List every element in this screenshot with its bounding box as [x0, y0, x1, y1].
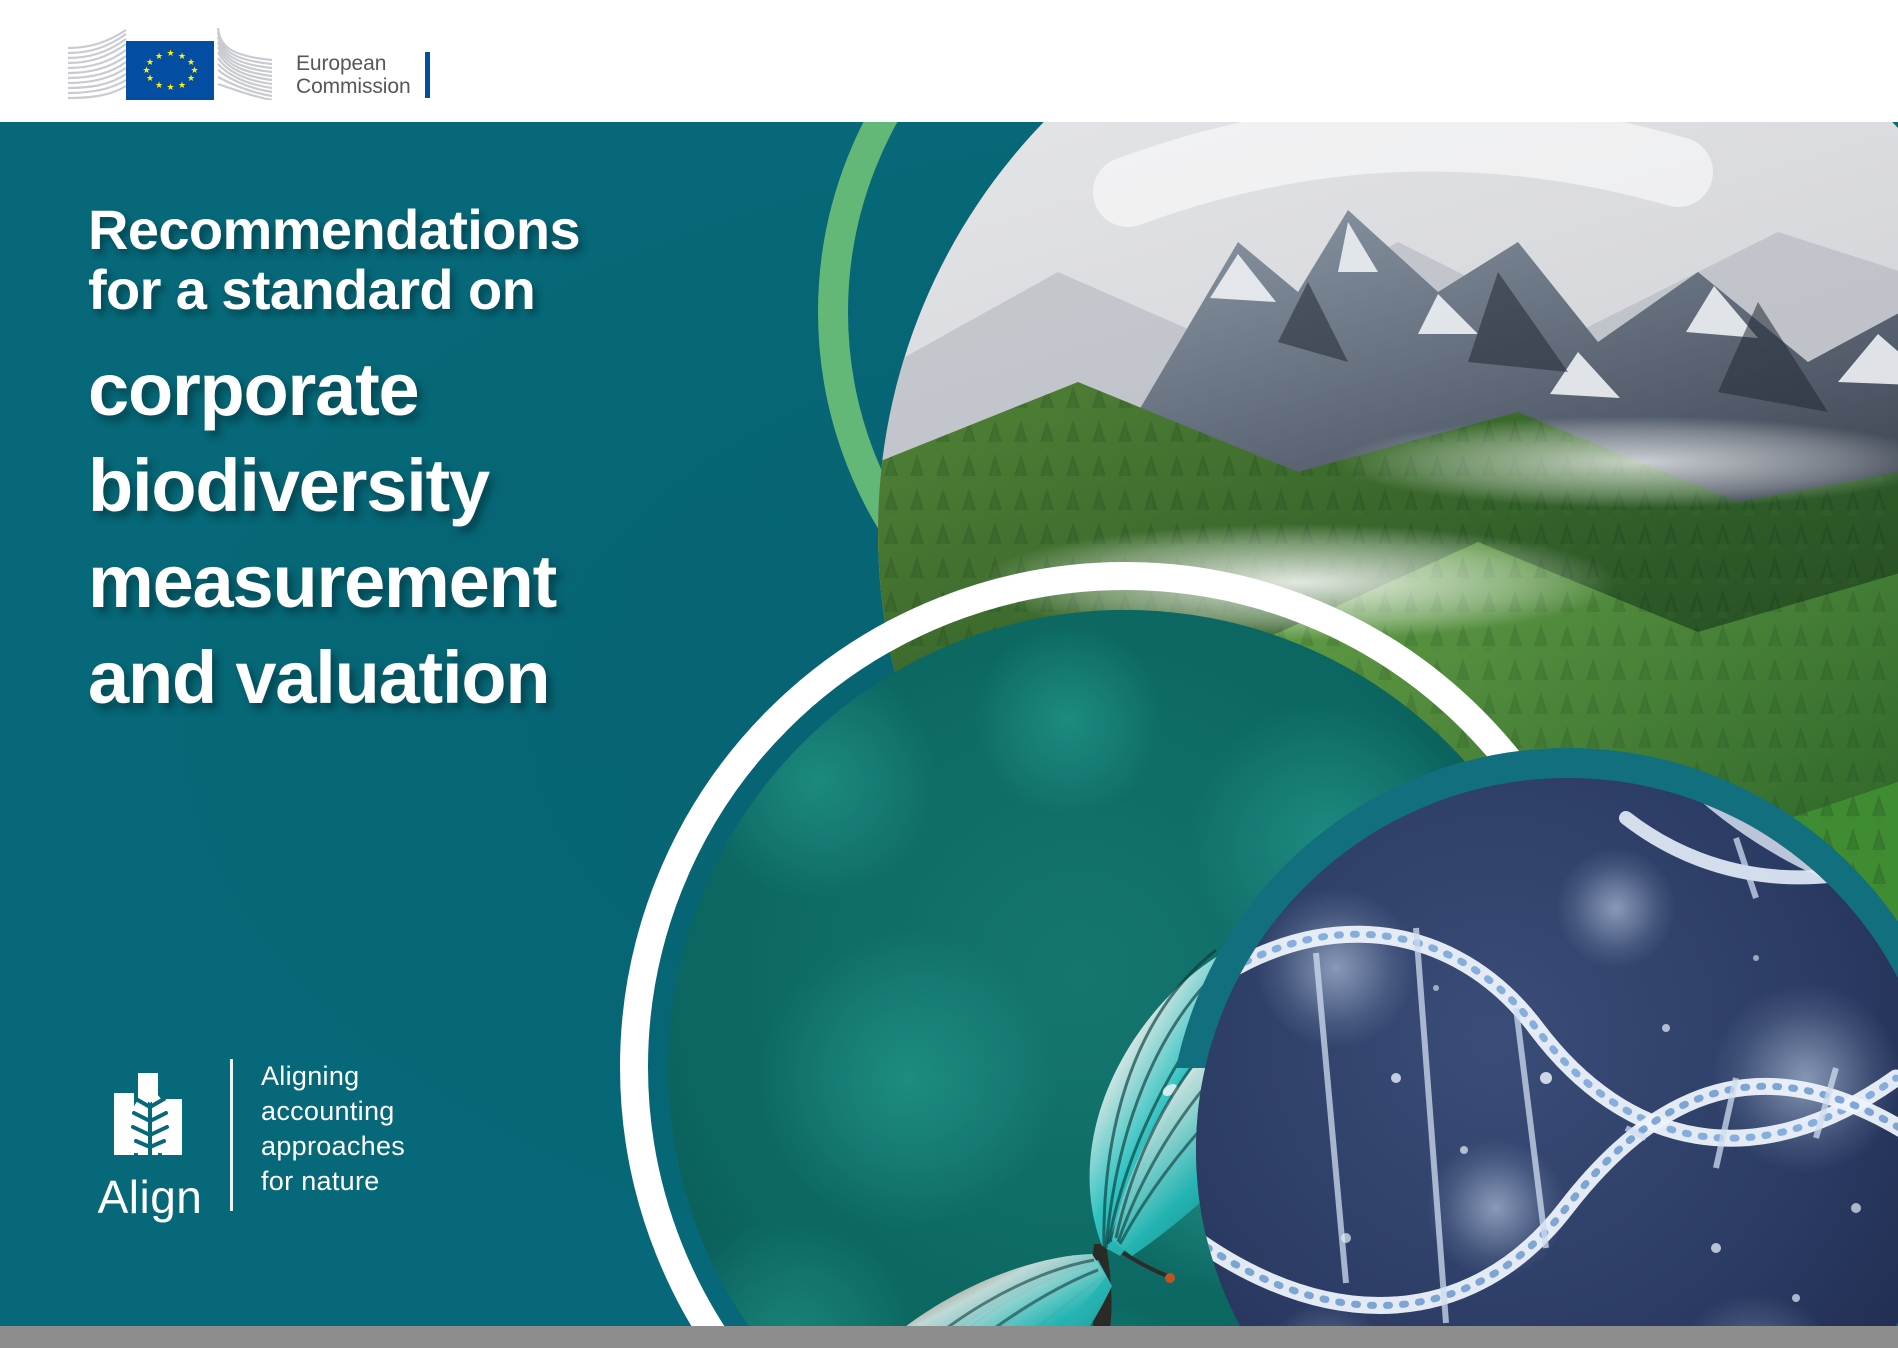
eu-wordmark-line2: Commission	[296, 75, 411, 98]
align-leaf-bars-icon	[96, 1055, 204, 1168]
dna-helix-artwork	[1196, 778, 1898, 1348]
align-logo-lockup: Align Aligning accounting approaches for…	[96, 1055, 405, 1220]
eu-flag-icon: ★ ★ ★ ★ ★ ★ ★ ★ ★ ★ ★ ★	[126, 41, 214, 100]
eu-blue-rule	[425, 52, 430, 98]
title-block: Recommendations for a standard on corpor…	[88, 200, 788, 726]
align-logo-block: Align	[96, 1055, 204, 1220]
eu-flourish-left-icon	[68, 28, 128, 100]
eu-commission-logo: ★ ★ ★ ★ ★ ★ ★ ★ ★ ★ ★ ★	[68, 22, 430, 100]
eu-flourish-right-icon	[216, 28, 274, 100]
header-band: ★ ★ ★ ★ ★ ★ ★ ★ ★ ★ ★ ★	[0, 0, 1898, 122]
align-tagline: Aligning accounting approaches for natur…	[261, 1055, 405, 1199]
report-cover: ★ ★ ★ ★ ★ ★ ★ ★ ★ ★ ★ ★	[0, 0, 1898, 1348]
bottom-strip	[0, 1326, 1898, 1348]
page-title: corporate biodiversity measurement and v…	[88, 342, 788, 726]
align-wordmark: Align	[96, 1174, 204, 1220]
align-divider	[230, 1059, 233, 1211]
eu-wordmark: European Commission	[296, 52, 411, 100]
eu-wordmark-line1: European	[296, 52, 411, 75]
cover-subtitle: Recommendations for a standard on	[88, 200, 788, 320]
dna-helix-photo	[1196, 778, 1898, 1348]
